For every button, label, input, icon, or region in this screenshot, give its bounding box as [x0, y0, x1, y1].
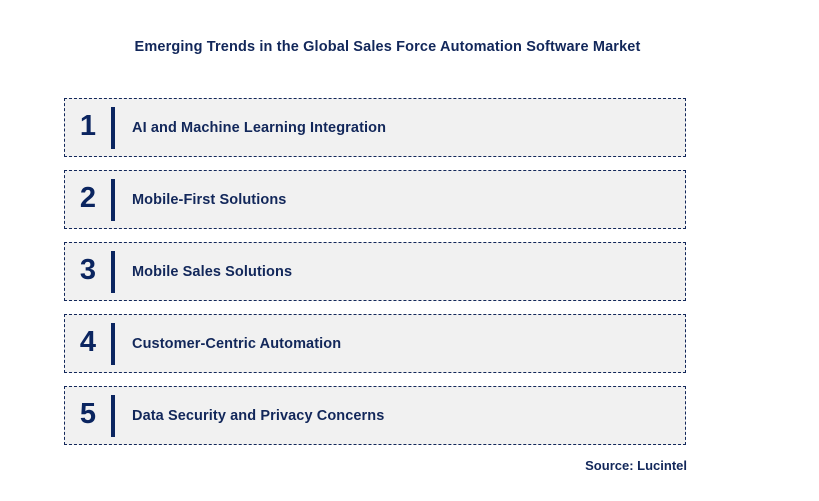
- list-item: 5 Data Security and Privacy Concerns: [64, 386, 686, 445]
- trend-rank-number: 1: [65, 112, 111, 143]
- trend-label: Data Security and Privacy Concerns: [115, 408, 685, 424]
- page-title: Emerging Trends in the Global Sales Forc…: [0, 39, 775, 55]
- source-attribution: Source: Lucintel: [585, 458, 687, 473]
- trend-label: Mobile Sales Solutions: [115, 264, 685, 280]
- trend-label: Mobile-First Solutions: [115, 192, 685, 208]
- trend-rank-number: 2: [65, 184, 111, 215]
- infographic-container: Emerging Trends in the Global Sales Forc…: [0, 0, 819, 501]
- trend-rank-number: 5: [65, 400, 111, 431]
- trend-list: 1 AI and Machine Learning Integration 2 …: [64, 98, 686, 445]
- list-item: 3 Mobile Sales Solutions: [64, 242, 686, 301]
- trend-rank-number: 4: [65, 328, 111, 359]
- list-item: 2 Mobile-First Solutions: [64, 170, 686, 229]
- trend-rank-number: 3: [65, 256, 111, 287]
- list-item: 1 AI and Machine Learning Integration: [64, 98, 686, 157]
- trend-label: AI and Machine Learning Integration: [115, 120, 685, 136]
- list-item: 4 Customer-Centric Automation: [64, 314, 686, 373]
- trend-label: Customer-Centric Automation: [115, 336, 685, 352]
